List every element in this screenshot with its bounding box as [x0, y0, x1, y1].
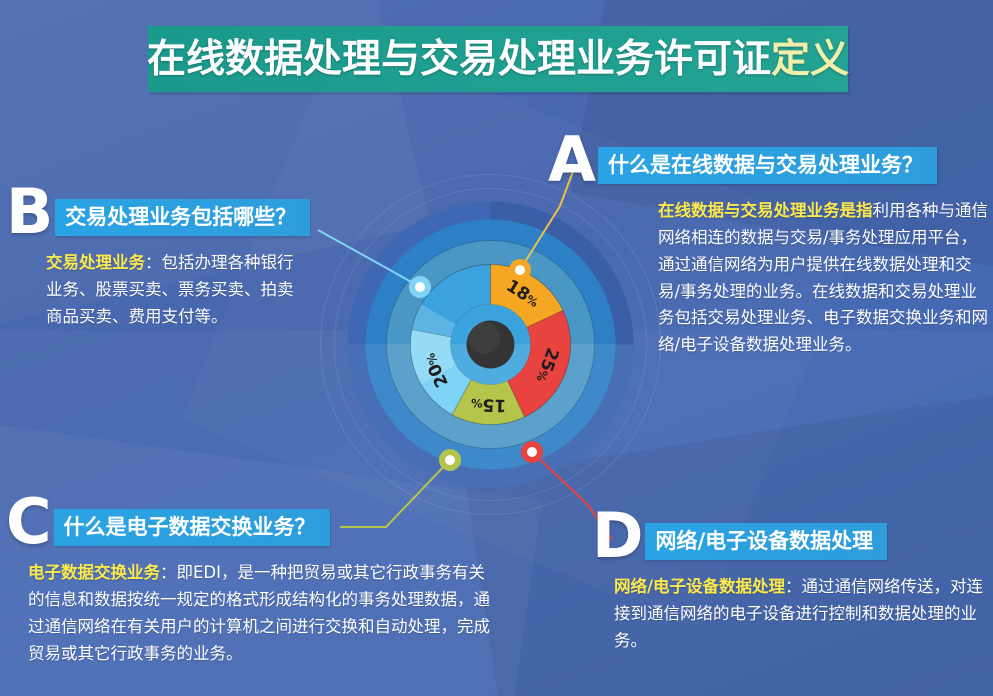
section-a-heading[interactable]: 什么是在线数据与交易处理业务？: [598, 147, 937, 184]
section-b: B 交易处理业务包括哪些？ 交易处理业务：包括办理各种银行业务、股票买卖、票务买…: [6, 188, 346, 331]
section-c-body: 电子数据交换业务：即EDI，是一种把贸易或其它行政事务有关的信息和数据按统一规定…: [28, 560, 498, 667]
section-a: A 什么是在线数据与交易处理业务？ 在线数据与交易处理业务是指利用各种与通信网络…: [548, 136, 993, 359]
section-d-body: 网络/电子设备数据处理：通过通信网络传送，对连接到通信网络的电子设备进行控制和数…: [614, 574, 984, 654]
section-a-header: A 什么是在线数据与交易处理业务？: [548, 136, 993, 184]
section-d: D 网络/电子设备数据处理 网络/电子设备数据处理：通过通信网络传送，对连接到通…: [592, 512, 993, 655]
section-d-letter: D: [592, 512, 643, 560]
section-c-header: C 什么是电子数据交换业务？: [6, 498, 506, 546]
section-d-heading[interactable]: 网络/电子设备数据处理: [645, 523, 887, 560]
section-d-lead: 网络/电子设备数据处理: [614, 577, 785, 596]
section-a-body: 在线数据与交易处理业务是指利用各种与通信网络相连的数据与交易/事务处理应用平台，…: [658, 198, 988, 358]
section-c-letter: C: [6, 498, 52, 546]
page-title-main: 在线数据处理与交易处理业务许可证: [147, 37, 771, 82]
section-b-body: 交易处理业务：包括办理各种银行业务、股票买卖、票务买卖、拍卖商品买卖、费用支付等…: [46, 250, 306, 330]
section-c-lead: 电子数据交换业务: [28, 563, 160, 582]
page-title: 在线数据处理与交易处理业务许可证定义: [147, 40, 849, 79]
section-c-heading[interactable]: 什么是电子数据交换业务？: [54, 509, 330, 546]
section-a-letter: A: [548, 136, 596, 184]
page-title-highlight: 定义: [771, 37, 849, 82]
section-b-header: B 交易处理业务包括哪些？: [6, 188, 346, 236]
title-banner: 在线数据处理与交易处理业务许可证定义: [148, 26, 848, 92]
chart-hub-gloss: [468, 322, 500, 354]
section-a-lead: 在线数据与交易处理业务是指: [658, 201, 873, 220]
section-b-heading[interactable]: 交易处理业务包括哪些？: [55, 199, 310, 236]
section-d-header: D 网络/电子设备数据处理: [592, 512, 993, 560]
section-b-lead: 交易处理业务: [46, 253, 145, 272]
section-c: C 什么是电子数据交换业务？ 电子数据交换业务：即EDI，是一种把贸易或其它行政…: [6, 498, 506, 667]
section-b-letter: B: [6, 188, 53, 236]
section-a-text: 利用各种与通信网络相连的数据与交易/事务处理应用平台，通过通信网络为用户提供在线…: [658, 201, 988, 354]
